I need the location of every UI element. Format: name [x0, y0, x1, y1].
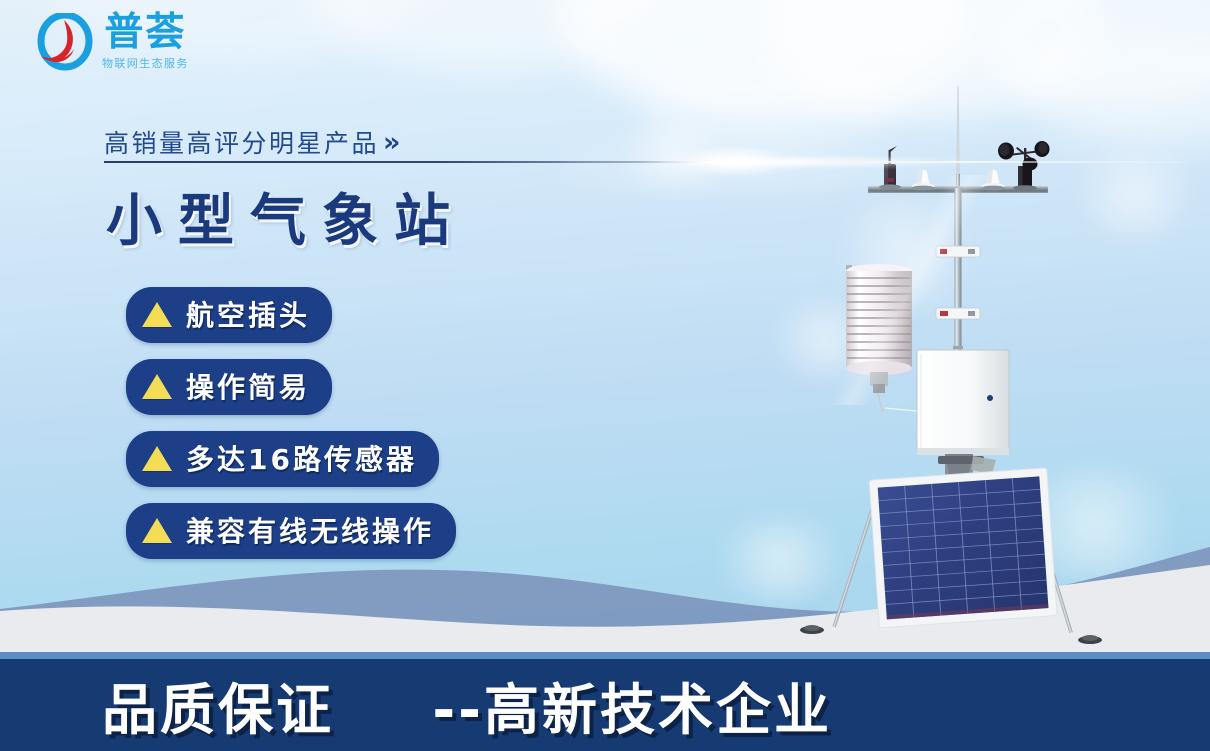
feature-label: 航空插头 [186, 294, 310, 334]
feature-pill[interactable]: 多达16路传感器 [126, 431, 439, 487]
triangle-bullet-icon [142, 374, 172, 399]
brand-logo[interactable]: 普荟 物联网生态服务 [34, 13, 189, 71]
feature-pill[interactable]: 操作简易 [126, 359, 332, 415]
feature-pill[interactable]: 兼容有线无线操作 [126, 503, 456, 559]
brand-subtitle: 物联网生态服务 [102, 55, 189, 71]
logo-emblem-icon [34, 13, 96, 71]
page-title: 小型气象站 [106, 176, 466, 257]
footer-text-left: 品质保证 [102, 678, 334, 742]
triangle-bullet-icon [142, 446, 172, 471]
hero-tagline: 高销量高评分明星产品 » [104, 124, 396, 160]
footer-accent-strip [0, 652, 1210, 659]
footer-text-right: --高新技术企业 [432, 678, 832, 742]
footer-banner: 品质保证 --高新技术企业 [0, 659, 1210, 751]
feature-label: 兼容有线无线操作 [186, 510, 434, 550]
feature-list: 航空插头 操作简易 多达16路传感器 兼容有线无线操作 [126, 287, 456, 575]
footer-text: 品质保证 --高新技术企业 [102, 665, 832, 745]
weather-station-image [790, 78, 1190, 668]
feature-pill[interactable]: 航空插头 [126, 287, 332, 343]
light-blob-decoration [600, 120, 750, 190]
cloud-decoration [300, 0, 680, 70]
double-chevron-icon: » [383, 127, 396, 158]
brand-name: 普荟 [104, 13, 186, 53]
triangle-bullet-icon [142, 302, 172, 327]
hero-divider [104, 161, 1210, 163]
triangle-bullet-icon [142, 518, 172, 543]
feature-label: 多达16路传感器 [186, 438, 417, 478]
feature-label: 操作简易 [186, 366, 310, 406]
hero-tagline-text: 高销量高评分明星产品 [104, 124, 379, 160]
promo-banner: 普荟 物联网生态服务 高销量高评分明星产品 » 小型气象站 航空插头 操作简易 … [0, 0, 1210, 751]
